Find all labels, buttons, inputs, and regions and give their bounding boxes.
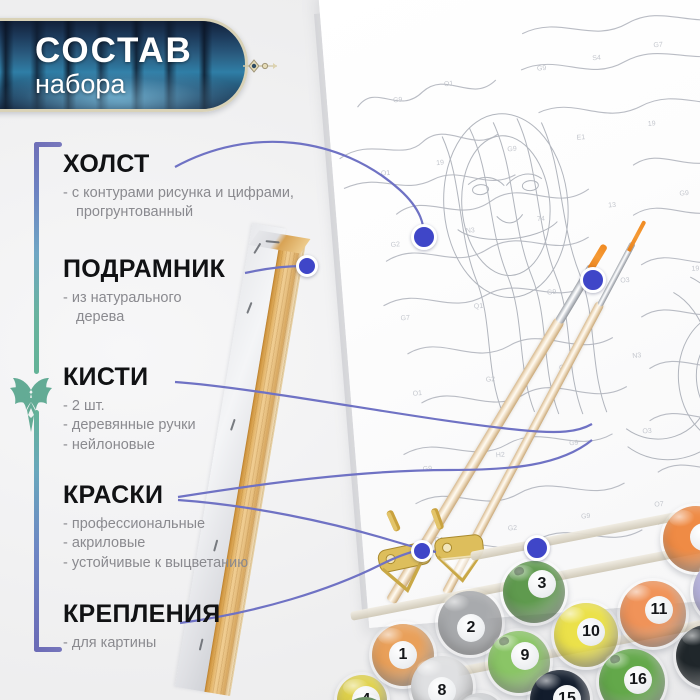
feature-title: ПОДРАМНИК xyxy=(63,257,225,282)
bullet: - акриловые xyxy=(63,534,248,553)
feature-bullets: - профессиональные - акриловые - устойчи… xyxy=(63,515,248,573)
feature-title: ХОЛСТ xyxy=(63,152,294,177)
feature-bullets: - из натурального дерева xyxy=(63,289,225,328)
banner-subtitle: набора xyxy=(35,71,245,98)
banner-ornament-icon xyxy=(243,57,279,75)
feature-holst: ХОЛСТ - с контурами рисунка и цифрами, п… xyxy=(63,152,294,223)
feature-title: КИСТИ xyxy=(63,365,196,390)
infographic-root: G9O1 G9S4 G7G9 G9O1 19G9 E119 G9G2 N374 … xyxy=(0,0,700,700)
connector-podramnik xyxy=(245,266,303,273)
bullet: - профессиональные xyxy=(63,515,248,534)
feature-bullets: - с контурами рисунка и цифрами, прогрун… xyxy=(63,184,294,223)
hotspot-dot-krepleniya[interactable] xyxy=(411,540,433,562)
feature-kisti: КИСТИ - 2 шт. - деревянные ручки - нейло… xyxy=(63,365,196,455)
bullet: - для картины xyxy=(63,634,221,653)
feature-podramnik: ПОДРАМНИК - из натурального дерева xyxy=(63,257,225,328)
bullet: - нейлоновые xyxy=(63,436,196,455)
bullet: - деревянные ручки xyxy=(63,416,196,435)
hotspot-dot-holst[interactable] xyxy=(411,224,437,250)
feature-krepleniya: КРЕПЛЕНИЯ - для картины xyxy=(63,602,221,653)
banner-title: СОСТАВ xyxy=(35,33,245,68)
feature-bullets: - 2 шт. - деревянные ручки - нейлоновые xyxy=(63,397,196,455)
hotspot-dot-kraski[interactable] xyxy=(524,535,550,561)
bullet: прогрунтованный xyxy=(63,203,294,222)
bullet: - устойчивые к выцветанию xyxy=(63,554,248,573)
feature-bullets: - для картины xyxy=(63,634,221,653)
feature-title: КРАСКИ xyxy=(63,483,248,508)
header-banner: СОСТАВ набора xyxy=(0,18,248,112)
hotspot-dot-podramnik[interactable] xyxy=(296,255,318,277)
bullet: - с контурами рисунка и цифрами, xyxy=(63,184,294,203)
bullet: - из натурального xyxy=(63,289,225,308)
bullet: дерева xyxy=(63,308,225,327)
feature-kraski: КРАСКИ - профессиональные - акриловые - … xyxy=(63,483,248,573)
feature-title: КРЕПЛЕНИЯ xyxy=(63,602,221,627)
hotspot-dot-kisti[interactable] xyxy=(580,267,606,293)
connector-kisti xyxy=(175,382,592,432)
bullet: - 2 шт. xyxy=(63,397,196,416)
